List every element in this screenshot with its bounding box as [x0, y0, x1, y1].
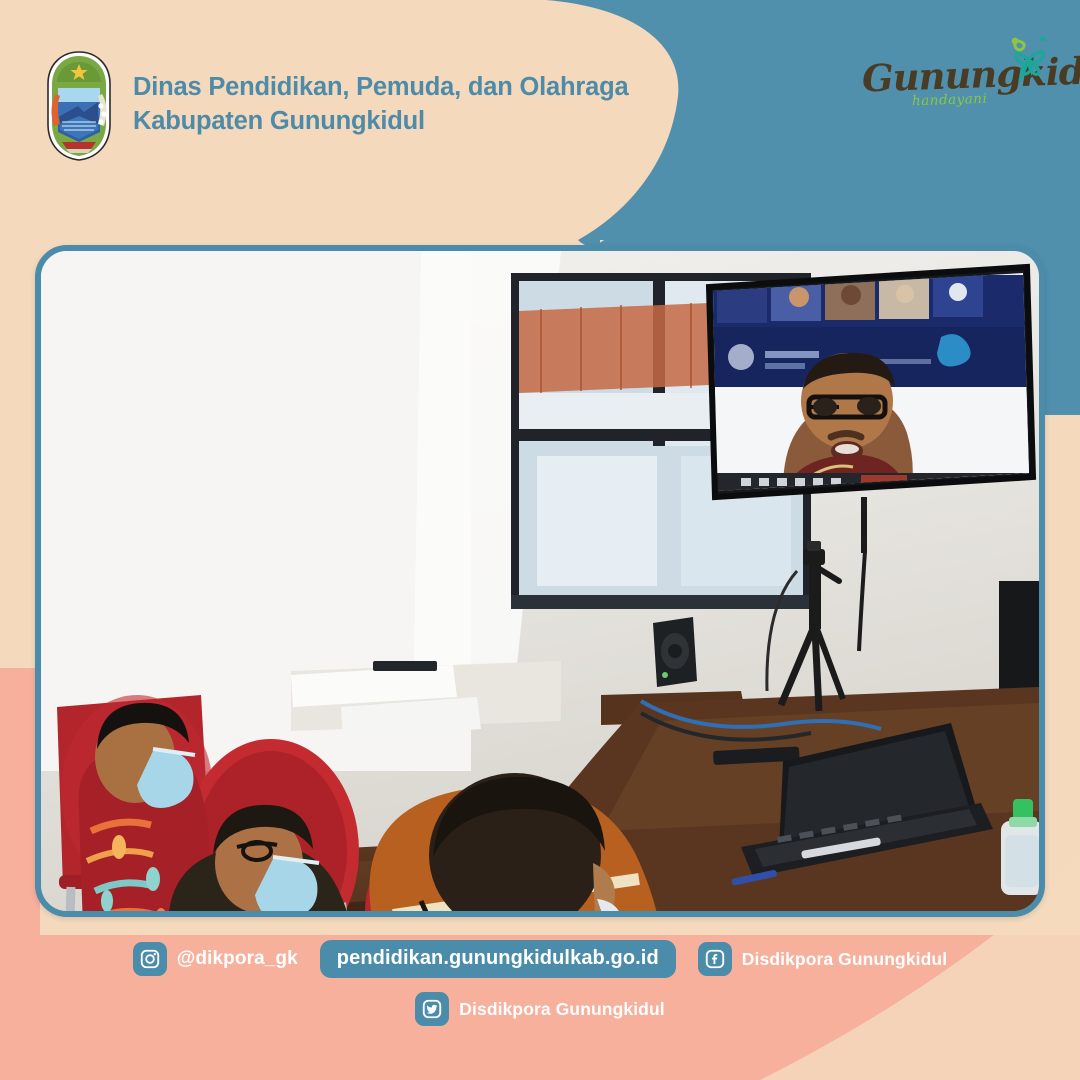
page-title: Dinas Pendidikan, Pemuda, dan Olahraga K…: [133, 70, 628, 138]
footer-row-2: Disdikpora Gunungkidul: [0, 992, 1080, 1026]
twitter-item[interactable]: Disdikpora Gunungkidul: [415, 992, 664, 1026]
photo-content: [41, 251, 1039, 911]
instagram-item[interactable]: @dikpora_gk: [133, 942, 298, 976]
facebook-icon[interactable]: [698, 942, 732, 976]
website-link[interactable]: pendidikan.gunungkidulkab.go.id: [320, 940, 676, 978]
gunungkidul-coat-of-arms-icon: [44, 50, 114, 162]
instagram-icon[interactable]: [133, 942, 167, 976]
desktop-speaker: [653, 617, 697, 687]
brand-tagline: handayani: [912, 91, 988, 110]
gunungkidul-handayani-logo: Gunungkidul handayani: [852, 30, 1062, 125]
footer-social-bar: @dikpora_gk pendidikan.gunungkidulkab.go…: [0, 930, 1080, 1080]
header: Dinas Pendidikan, Pemuda, dan Olahraga K…: [0, 0, 1080, 200]
twitter-icon[interactable]: [415, 992, 449, 1026]
meeting-photograph: [35, 245, 1045, 917]
instagram-handle: @dikpora_gk: [177, 948, 298, 970]
twitter-name: Disdikpora Gunungkidul: [459, 999, 664, 1020]
facebook-name: Disdikpora Gunungkidul: [742, 949, 947, 970]
facebook-item[interactable]: Disdikpora Gunungkidul: [698, 942, 947, 976]
footer-row-1: @dikpora_gk pendidikan.gunungkidulkab.go…: [0, 940, 1080, 978]
butterfly-flourish-icon: [998, 26, 1060, 88]
